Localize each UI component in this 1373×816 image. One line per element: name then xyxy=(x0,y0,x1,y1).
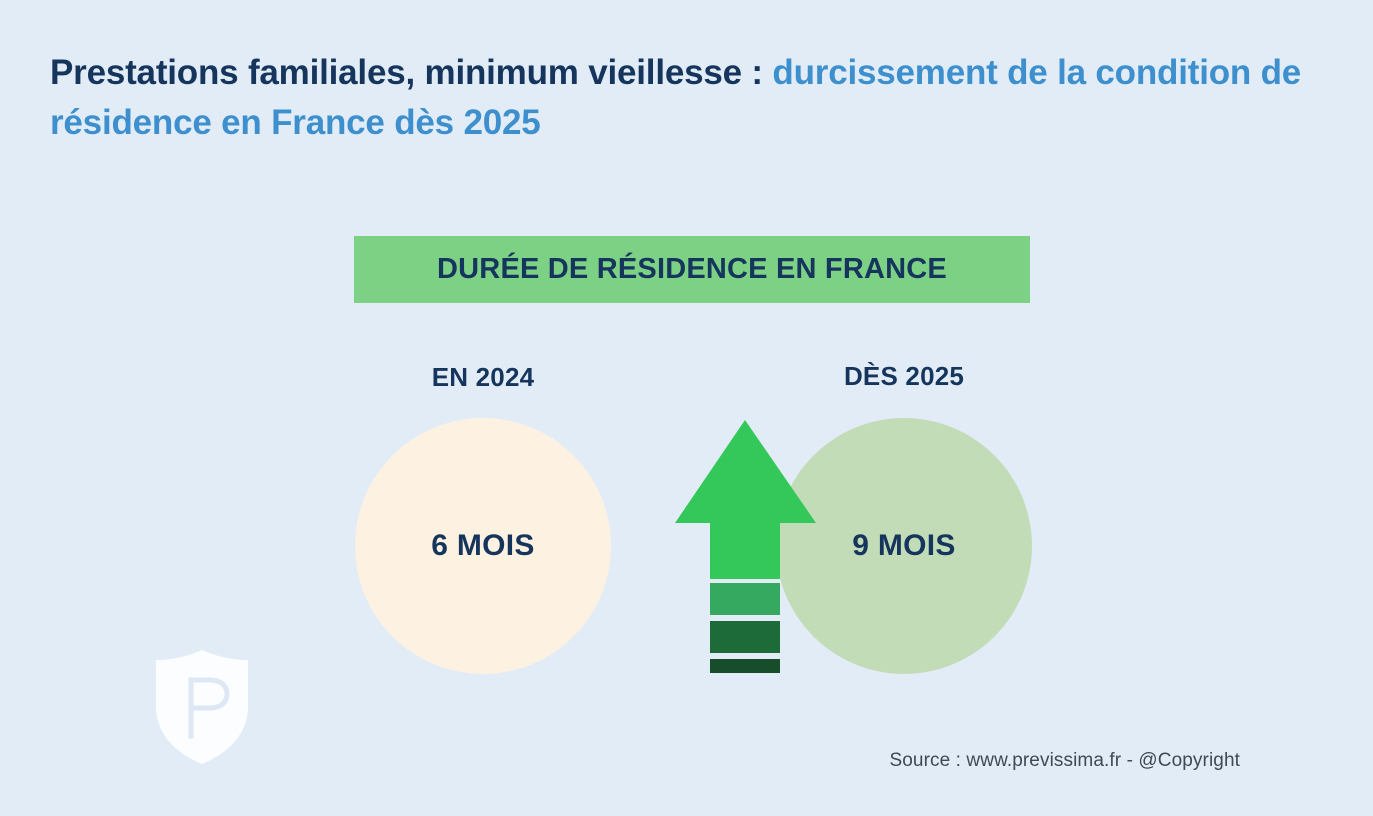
stat-value-2024: 6 MOIS xyxy=(431,529,535,563)
stat-circle-2024: 6 MOIS xyxy=(355,418,611,674)
arrow-shaft-shape xyxy=(710,573,780,579)
arrow-segment-2 xyxy=(710,621,780,653)
page-title: Prestations familiales, minimum vieilles… xyxy=(50,48,1320,149)
up-arrow-icon xyxy=(673,418,818,673)
stat-value-2025: 9 MOIS xyxy=(852,529,956,563)
arrow-segment-1 xyxy=(710,583,780,615)
duration-banner: DURÉE DE RÉSIDENCE EN FRANCE xyxy=(354,236,1030,303)
duration-banner-label: DURÉE DE RÉSIDENCE EN FRANCE xyxy=(437,253,947,286)
previssima-shield-logo xyxy=(152,648,252,766)
arrow-head-shape xyxy=(675,420,816,573)
period-label-2025: DÈS 2025 xyxy=(776,361,1032,392)
source-credit: Source : www.previssima.fr - @Copyright xyxy=(889,750,1240,772)
page-title-primary: Prestations familiales, minimum vieilles… xyxy=(50,53,772,92)
arrow-segment-3 xyxy=(710,659,780,673)
period-label-2024: EN 2024 xyxy=(355,362,611,393)
infographic-canvas: Prestations familiales, minimum vieilles… xyxy=(0,0,1373,816)
